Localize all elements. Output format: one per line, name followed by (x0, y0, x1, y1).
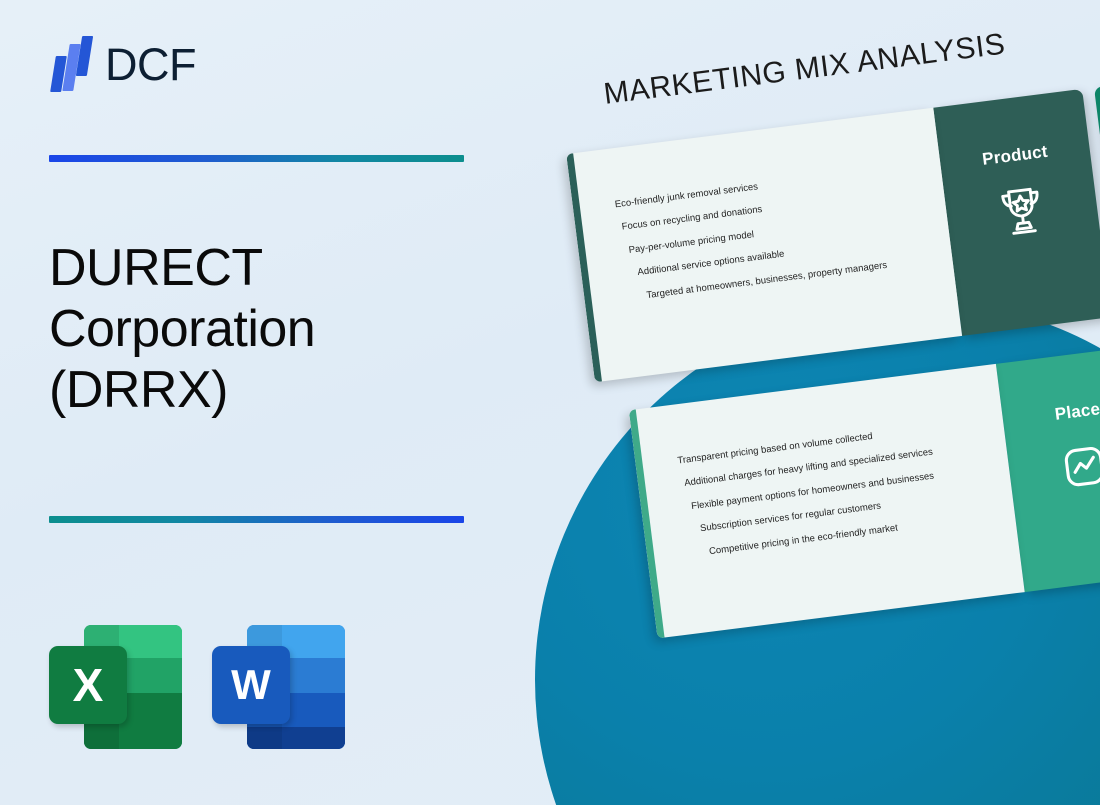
bullet-list: Eco-friendly junk removal services Focus… (566, 108, 953, 310)
tile-product[interactable]: Product (933, 89, 1100, 336)
divider-bottom (49, 516, 464, 523)
word-file-icon[interactable]: W (212, 622, 345, 752)
activity-chart-icon (1052, 434, 1100, 504)
card-row-place-promotion: Transparent pricing based on volume coll… (629, 325, 1100, 639)
tile-place-label: Place (1054, 399, 1100, 425)
list-item: Competitive pricing in the eco-friendly … (689, 510, 1002, 560)
excel-file-icon[interactable]: X (49, 622, 182, 752)
word-file-letter: W (212, 646, 290, 724)
tile-product-label: Product (981, 142, 1049, 170)
slide-canvas: DCF DURECT Corporation (DRRX) X W MARKET… (0, 0, 1100, 805)
illustration-heading: MARKETING MIX ANALYSIS (602, 27, 1007, 111)
bar-chart-logo-icon (49, 36, 95, 92)
brand-logo[interactable]: DCF (49, 36, 196, 92)
left-info-panel: DCF DURECT Corporation (DRRX) X W (0, 0, 540, 805)
trophy-icon (989, 178, 1054, 248)
bullet-list: Transparent pricing based on volume coll… (629, 364, 1016, 566)
marketing-mix-illustration: MARKETING MIX ANALYSIS Eco-friendly junk… (500, 0, 1100, 805)
excel-file-letter: X (49, 646, 127, 724)
list-item: Targeted at homeowners, businesses, prop… (626, 254, 939, 304)
page-title: DURECT Corporation (DRRX) (49, 238, 499, 420)
card-row-product-price: Eco-friendly junk removal services Focus… (566, 69, 1100, 383)
download-icons: X W (49, 622, 345, 752)
brand-name: DCF (105, 42, 196, 87)
divider-top (49, 155, 464, 162)
bullet-panel: Eco-friendly junk removal services Focus… (566, 108, 962, 383)
bullet-panel: Transparent pricing based on volume coll… (629, 364, 1025, 639)
card-deck: Eco-friendly junk removal services Focus… (566, 74, 1100, 650)
